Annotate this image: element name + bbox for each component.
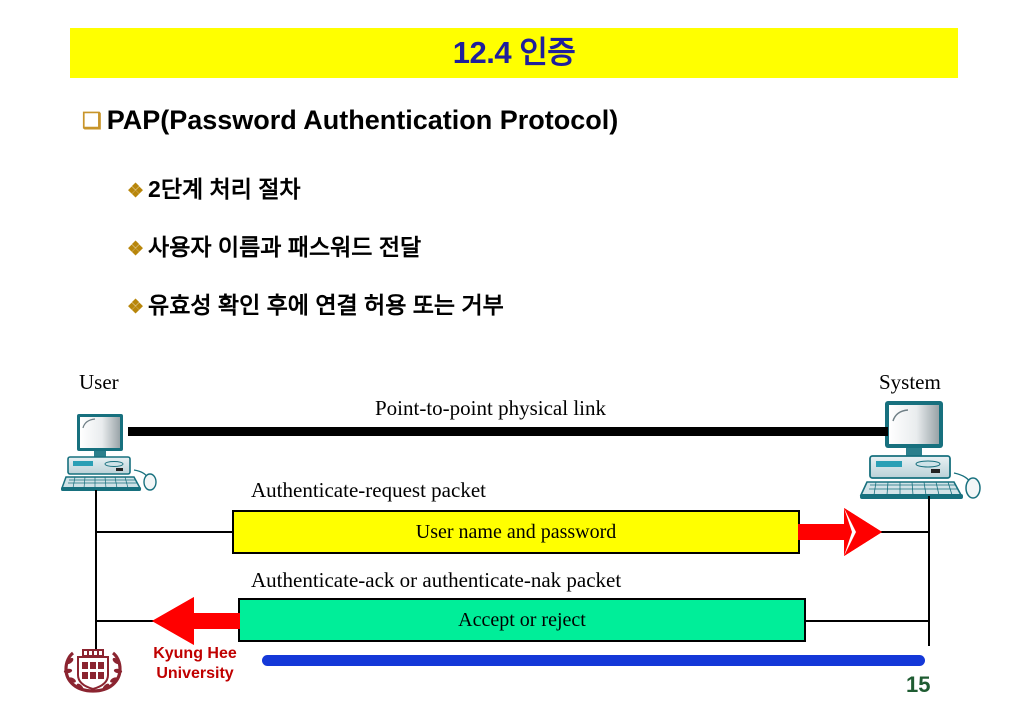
diamond-bullet-icon: ❖ bbox=[127, 182, 144, 201]
request-packet-caption: Authenticate-request packet bbox=[251, 478, 486, 503]
reply-packet-payload: Accept or reject bbox=[458, 609, 586, 632]
reply-packet-caption: Authenticate-ack or authenticate-nak pac… bbox=[251, 568, 621, 593]
request-packet-box: User name and password bbox=[232, 510, 800, 554]
bullet-item-two-step-label: 2단계 처리 절차 bbox=[148, 170, 301, 204]
page-number: 15 bbox=[906, 672, 930, 698]
request-arrow-right-icon bbox=[798, 506, 882, 558]
university-crest-icon bbox=[62, 645, 124, 693]
physical-link-line bbox=[128, 427, 888, 436]
university-name-line2: University bbox=[125, 664, 265, 684]
reply-connector-right bbox=[806, 620, 930, 622]
diagram-actor-user-label: User bbox=[79, 370, 119, 395]
square-bullet-icon: ❑ bbox=[82, 110, 102, 132]
physical-link-label: Point-to-point physical link bbox=[375, 396, 606, 421]
user-lifeline bbox=[95, 490, 97, 650]
bullet-item-accept-reject: ❖ 유효성 확인 후에 연결 허용 또는 거부 bbox=[127, 286, 504, 320]
user-computer-icon bbox=[60, 408, 170, 498]
title-banner: 12.4 인증 bbox=[70, 28, 958, 78]
reply-arrow-left-icon bbox=[152, 595, 240, 647]
reply-packet-box: Accept or reject bbox=[238, 598, 806, 642]
request-connector-right bbox=[876, 531, 930, 533]
bullet-item-send-credentials-label: 사용자 이름과 패스워드 전달 bbox=[148, 228, 421, 262]
bullet-item-pap: ❑ PAP(Password Authentication Protocol) bbox=[82, 105, 618, 136]
system-computer-icon bbox=[858, 396, 993, 506]
bullet-item-accept-reject-label: 유효성 확인 후에 연결 허용 또는 거부 bbox=[148, 286, 504, 320]
diamond-bullet-icon: ❖ bbox=[127, 298, 144, 317]
bullet-item-pap-label: PAP(Password Authentication Protocol) bbox=[107, 105, 619, 136]
system-lifeline bbox=[928, 496, 930, 646]
bullet-item-send-credentials: ❖ 사용자 이름과 패스워드 전달 bbox=[127, 228, 421, 262]
university-name: Kyung Hee University bbox=[125, 644, 265, 684]
diagram-actor-system-label: System bbox=[879, 370, 941, 395]
university-name-line1: Kyung Hee bbox=[125, 644, 265, 664]
request-connector-left bbox=[95, 531, 235, 533]
bullet-item-two-step: ❖ 2단계 처리 절차 bbox=[127, 170, 301, 204]
page-title: 12.4 인증 bbox=[70, 28, 958, 78]
request-packet-payload: User name and password bbox=[416, 521, 617, 544]
diamond-bullet-icon: ❖ bbox=[127, 240, 144, 259]
footer-accent-bar bbox=[262, 655, 925, 666]
